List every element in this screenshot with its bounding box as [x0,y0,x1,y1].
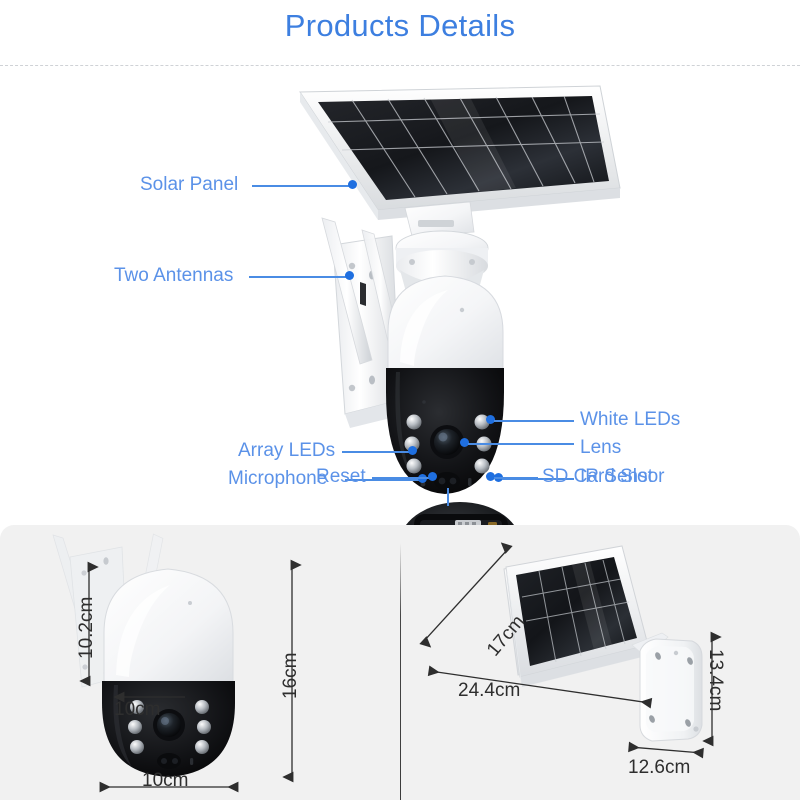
callout-label-two-antennas: Two Antennas [114,265,233,287]
callout-dot-solar-panel [348,180,357,189]
leader-line-sd-card-slot [494,477,538,479]
solar-panel-dimension-illustration [400,525,800,800]
camera-product-illustration [0,70,800,525]
solar-panel-bracket [632,633,702,741]
callout-dot-array-leds [408,446,417,455]
callout-label-lens: Lens [580,437,621,459]
hero-product-diagram: Solar Panel Two Antennas Array LEDs Micr… [0,70,800,525]
callout-label-white-leds: White LEDs [580,409,680,431]
callout-label-microphone: Microphone [228,468,327,490]
page-title: Products Details [0,8,800,44]
callout-dot-microphone [418,474,427,483]
dim-label-camera-width: 10cm [142,770,188,792]
camera-body-small [102,569,235,777]
leader-line-solar-panel [252,185,352,187]
dim-arrow-bracket-width [630,747,702,753]
dimension-panels: 10.2cm 10cm 16cm 10cm [0,525,800,800]
dim-label-bracket-height: 13.4cm [704,649,726,711]
callout-label-reset: Reset [316,466,366,488]
leader-line-inset-connector [447,488,449,506]
callout-dot-reset [428,472,437,481]
dim-label-camera-depth: 10cm [114,699,160,721]
camera-dimension-illustration [0,525,400,800]
dim-label-camera-height-total: 16cm [280,653,302,699]
callout-label-array-leds: Array LEDs [238,440,335,462]
product-details-page: Products Details [0,0,800,800]
camera-head [388,276,503,370]
dim-label-camera-height-side: 10.2cm [76,597,98,659]
leader-line-white-leds [494,420,574,422]
dim-label-panel-width: 24.4cm [458,680,520,702]
leader-line-array-leds [342,451,414,453]
solar-panel-small [436,546,650,687]
leader-line-two-antennas [249,276,349,278]
leader-line-lens [468,443,574,445]
dim-label-bracket-width: 12.6cm [628,757,690,779]
callout-label-sd-card-slot: SD Card Slot [542,466,653,488]
callout-dot-two-antennas [345,271,354,280]
callout-label-solar-panel: Solar Panel [140,174,238,196]
solar-panel [300,86,620,236]
title-divider [0,65,800,66]
leader-line-reset [372,477,432,479]
